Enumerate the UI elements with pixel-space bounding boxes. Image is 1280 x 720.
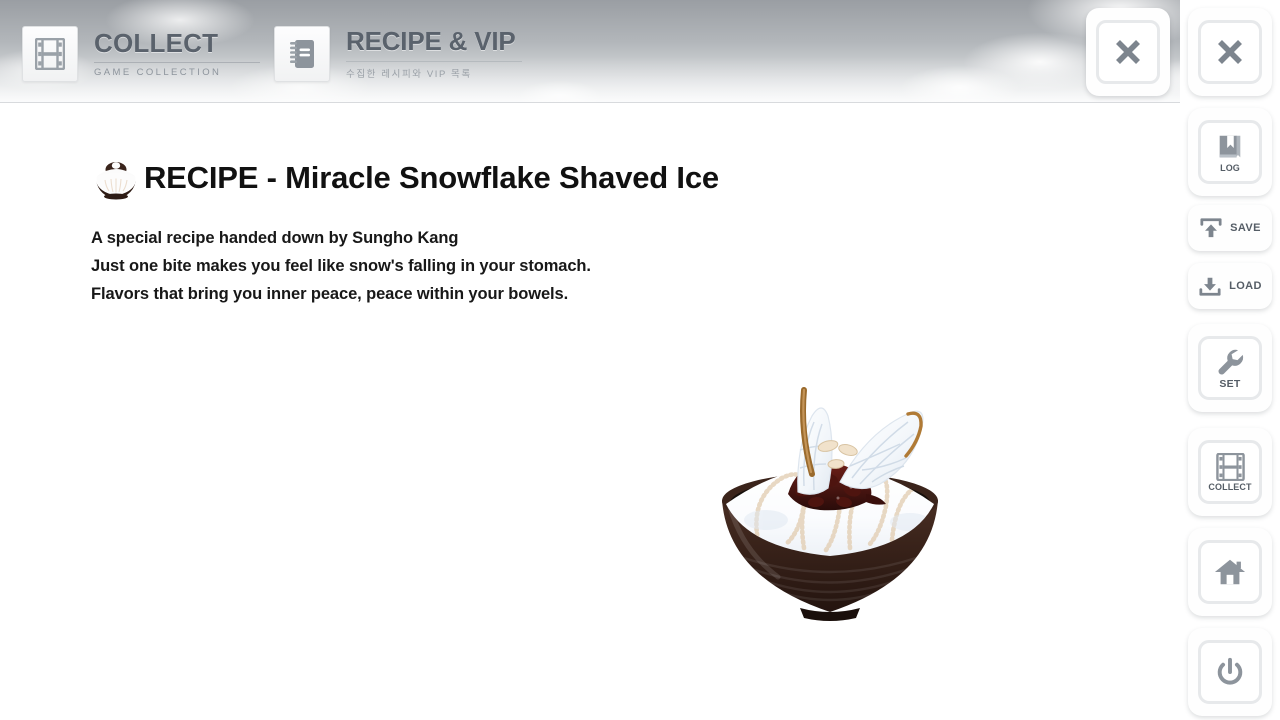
close-icon	[1113, 37, 1143, 67]
page-title-row: RECIPE - Miracle Snowflake Shaved Ice	[90, 156, 719, 200]
rail-power-button[interactable]	[1188, 628, 1272, 716]
tab-recipe-divider	[346, 61, 522, 62]
page-title-text: RECIPE - Miracle Snowflake Shaved Ice	[144, 160, 719, 196]
rail-close-button[interactable]	[1188, 8, 1272, 96]
tab-recipe-vip[interactable]: RECIPE & VIP 수집한 레시피와 VIP 목록	[274, 26, 522, 82]
notebook-icon	[274, 26, 330, 82]
bingsu-bowl-icon	[90, 156, 142, 200]
tab-collect-divider	[94, 62, 260, 63]
rail-collect-label: COLLECT	[1208, 483, 1251, 492]
power-icon	[1215, 657, 1245, 687]
film-strip-icon	[1216, 453, 1245, 481]
rail-save-label: SAVE	[1230, 223, 1261, 234]
recipe-detail-panel: RECIPE - Miracle Snowflake Shaved Ice A …	[0, 104, 1180, 720]
recipe-collection-screen: COLLECT GAME COLLECTION	[0, 0, 1280, 720]
bingsu-shaved-ice-illustration	[700, 372, 960, 632]
rail-log-button[interactable]: LOG	[1188, 108, 1272, 196]
rail-home-button[interactable]	[1188, 528, 1272, 616]
recipe-description-line-2: Just one bite makes you feel like snow's…	[91, 252, 591, 280]
recipe-description: A special recipe handed down by Sungho K…	[91, 224, 591, 308]
book-icon	[1215, 132, 1245, 162]
tab-collect-title: COLLECT	[94, 30, 260, 57]
wrench-icon	[1215, 347, 1245, 377]
header-sky-banner: COLLECT GAME COLLECTION	[0, 0, 1280, 103]
recipe-description-line-3: Flavors that bring you inner peace, peac…	[91, 280, 591, 308]
header-close-button[interactable]	[1086, 8, 1170, 96]
tab-collect-subtitle: GAME COLLECTION	[94, 67, 260, 78]
rail-load-button[interactable]: LOAD	[1188, 263, 1272, 309]
rail-set-button[interactable]: SET	[1188, 324, 1272, 412]
tab-recipe-title: RECIPE & VIP	[346, 28, 522, 55]
rail-save-button[interactable]: SAVE	[1188, 205, 1272, 251]
close-icon	[1215, 37, 1245, 67]
rail-load-label: LOAD	[1229, 281, 1262, 292]
home-icon	[1214, 557, 1246, 587]
rail-set-label: SET	[1219, 379, 1240, 390]
right-sidebar-rail: LOG SAVE L	[1180, 0, 1280, 720]
rail-log-label: LOG	[1220, 164, 1240, 173]
download-icon	[1198, 275, 1222, 297]
tab-collect-text: COLLECT GAME COLLECTION	[94, 30, 260, 78]
tab-collect[interactable]: COLLECT GAME COLLECTION	[22, 26, 260, 82]
tab-recipe-subtitle: 수집한 레시피와 VIP 목록	[346, 66, 522, 80]
upload-icon	[1199, 217, 1223, 239]
recipe-description-line-1: A special recipe handed down by Sungho K…	[91, 224, 591, 252]
tab-recipe-text: RECIPE & VIP 수집한 레시피와 VIP 목록	[346, 28, 522, 79]
film-strip-icon	[22, 26, 78, 82]
rail-collect-button[interactable]: COLLECT	[1188, 428, 1272, 516]
